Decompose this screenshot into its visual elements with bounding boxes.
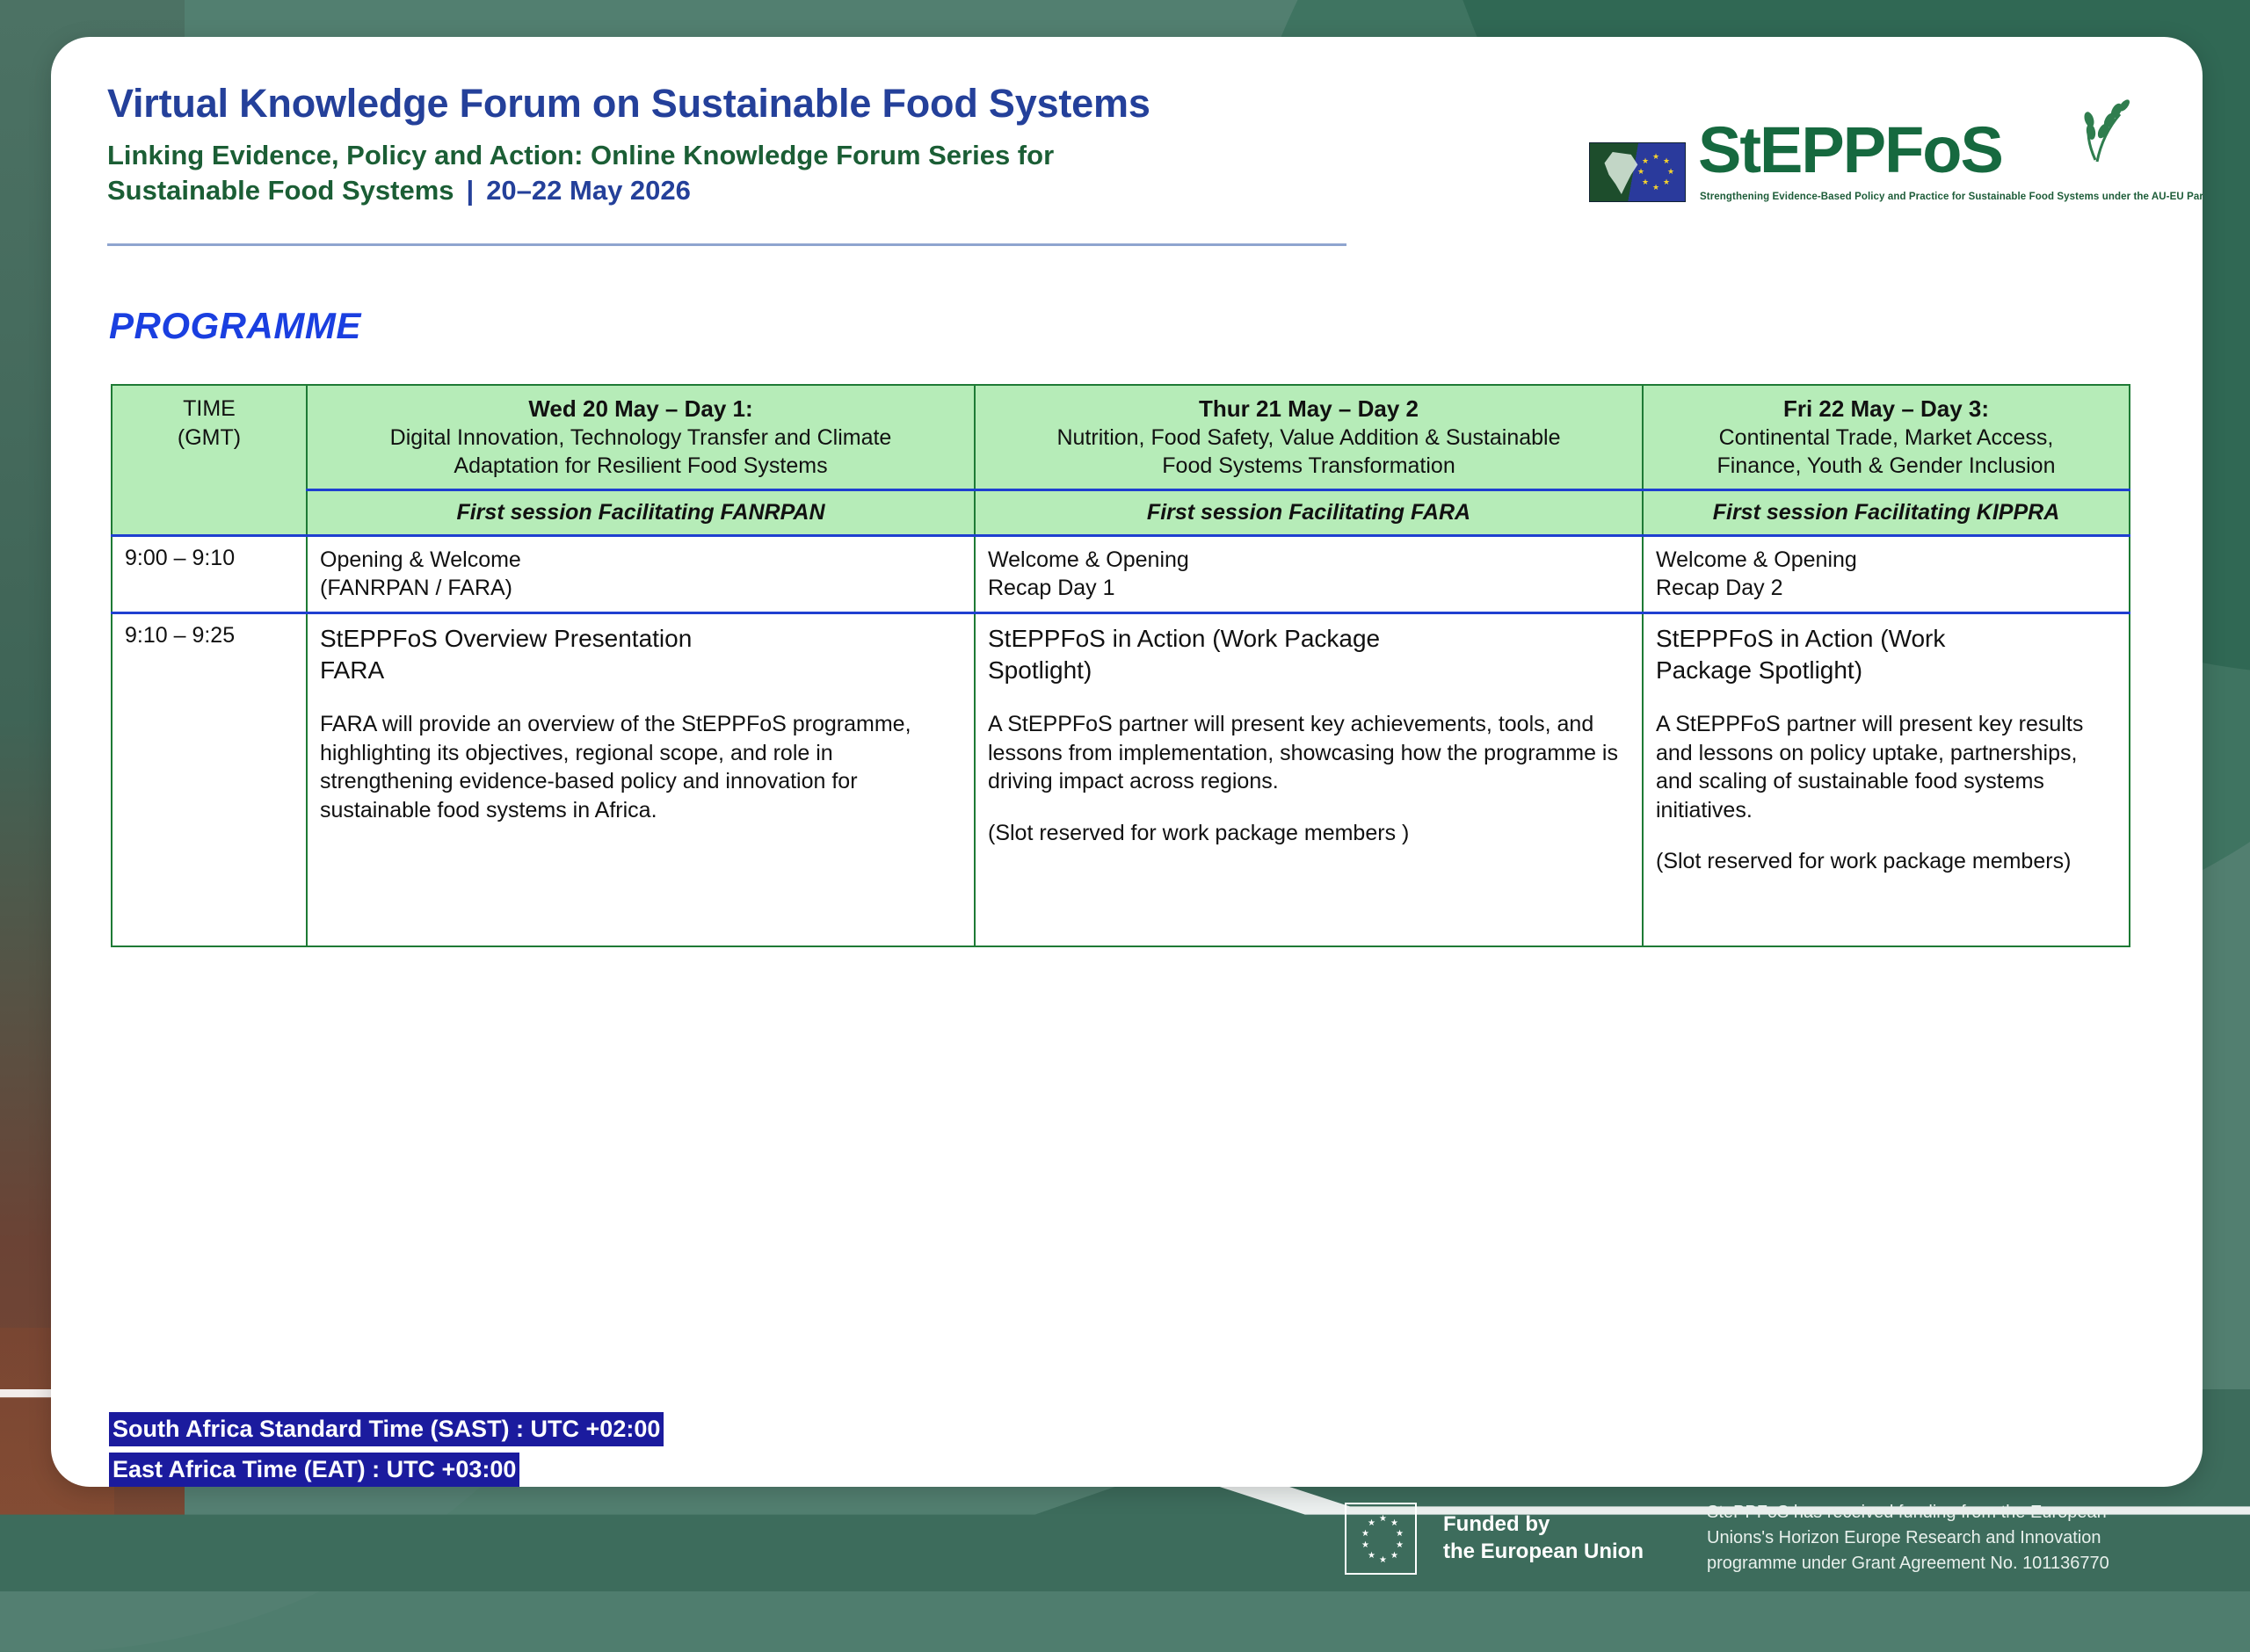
day1-facilitator: First session Facilitating FANRPAN (307, 489, 975, 535)
timezone-sast: South Africa Standard Time (SAST) : UTC … (109, 1412, 664, 1446)
grant-line-2: Unions's Horizon Europe Research and Inn… (1707, 1525, 2109, 1551)
programme-table: TIME (GMT) Wed 20 May – Day 1: Digital I… (111, 384, 2130, 947)
table-header-row: TIME (GMT) Wed 20 May – Day 1: Digital I… (112, 385, 2130, 489)
day2-facilitator: First session Facilitating FARA (975, 489, 1643, 535)
row1-day1-cell: Opening & Welcome (FANRPAN / FARA) (307, 535, 975, 612)
eu-stars-icon: ★ ★ ★ ★ ★ ★ ★ ★ ★ ★ (1346, 1504, 1415, 1573)
spacer (1656, 687, 2116, 710)
time-header-line-2: (GMT) (125, 424, 294, 453)
subtitle-line-2: Sustainable Food Systems (107, 175, 454, 206)
row1-day2-cell: Welcome & Opening Recap Day 1 (975, 535, 1643, 612)
row2-day2-lead1: StEPPFoS in Action (Work Package (988, 623, 1629, 656)
steppfos-logo: ★ ★ ★ ★ ★ ★ ★ ★ StEPPFoS Str (1589, 109, 2152, 206)
row1-day2-lead1: Welcome & Opening (988, 546, 1629, 575)
day3-facilitator: First session Facilitating KIPPRA (1643, 489, 2130, 535)
spacer (988, 796, 1629, 819)
row2-day3-lead2: Package Spotlight) (1656, 655, 2116, 687)
row2-day3-lead1: StEPPFoS in Action (Work (1656, 623, 2116, 656)
funded-line-1: Funded by (1443, 1511, 1644, 1539)
grant-line-3: programme under Grant Agreement No. 1011… (1707, 1551, 2109, 1576)
row1-day3-lead1: Welcome & Opening (1656, 546, 2116, 575)
day1-theme-line-2: Adaptation for Resilient Food Systems (320, 452, 962, 480)
subtitle-line-1: Linking Evidence, Policy and Action: Onl… (107, 140, 1054, 170)
funding-block: ★ ★ ★ ★ ★ ★ ★ ★ ★ ★ Funded by the Europe… (1345, 1500, 2109, 1576)
row2-day3-cell: StEPPFoS in Action (Work Package Spotlig… (1643, 612, 2130, 946)
timezone-notes: South Africa Standard Time (SAST) : UTC … (109, 1412, 664, 1487)
day1-name: Wed 20 May – Day 1: (320, 395, 962, 424)
grant-line-1: StePPFoS has received funding from the E… (1707, 1500, 2109, 1525)
row1-day2-lead2: Recap Day 1 (988, 574, 1629, 603)
row2-day2-lead2: Spotlight) (988, 655, 1629, 687)
row2-day2-cell: StEPPFoS in Action (Work Package Spotlig… (975, 612, 1643, 946)
row2-day1-lead2: FARA (320, 655, 962, 687)
row2-day1-cell: StEPPFoS Overview Presentation FARA FARA… (307, 612, 975, 946)
row2-time: 9:10 – 9:25 (112, 612, 307, 946)
eu-stars-icon: ★ ★ ★ ★ ★ ★ ★ ★ (1637, 152, 1676, 192)
row2-day2-note: (Slot reserved for work package members … (988, 819, 1629, 848)
row1-day1-lead2: (FANRPAN / FARA) (320, 574, 962, 603)
logo-wordmark: StEPPFoS (1698, 118, 2002, 183)
slide-footer: ★ ★ ★ ★ ★ ★ ★ ★ ★ ★ Funded by the Europe… (0, 1481, 2250, 1591)
subtitle-separator: | (454, 175, 487, 206)
africa-map-icon (1602, 152, 1639, 194)
slide-card: Virtual Knowledge Forum on Sustainable F… (51, 37, 2203, 1487)
time-header-line-1: TIME (125, 395, 294, 424)
row2-day1-lead1: StEPPFoS Overview Presentation (320, 623, 962, 656)
row1-time: 9:00 – 9:10 (112, 535, 307, 612)
logo-tagline: Strengthening Evidence-Based Policy and … (1700, 192, 2203, 202)
table-row: 9:00 – 9:10 Opening & Welcome (FANRPAN /… (112, 535, 2130, 612)
section-heading: PROGRAMME (109, 305, 361, 347)
day3-header: Fri 22 May – Day 3: Continental Trade, M… (1643, 385, 2130, 489)
header-divider (107, 243, 1346, 246)
grant-note: StePPFoS has received funding from the E… (1707, 1500, 2109, 1576)
funded-line-2: the European Union (1443, 1539, 1644, 1566)
au-eu-flag-icon: ★ ★ ★ ★ ★ ★ ★ ★ (1589, 142, 1686, 202)
event-dates: 20–22 May 2026 (486, 175, 691, 206)
eu-flag-icon: ★ ★ ★ ★ ★ ★ ★ ★ ★ ★ (1345, 1503, 1417, 1575)
facilitator-row: First session Facilitating FANRPAN First… (112, 489, 2130, 535)
day3-theme-line-2: Finance, Youth & Gender Inclusion (1656, 452, 2116, 480)
row2-day3-body: A StEPPFoS partner will present key resu… (1656, 710, 2116, 824)
funded-by-label: Funded by the European Union (1443, 1511, 1644, 1565)
row1-day1-lead1: Opening & Welcome (320, 546, 962, 575)
row2-day1-body: FARA will provide an overview of the StE… (320, 710, 962, 824)
spacer (988, 687, 1629, 710)
table-row: 9:10 – 9:25 StEPPFoS Overview Presentati… (112, 612, 2130, 946)
day3-theme-line-1: Continental Trade, Market Access, (1656, 424, 2116, 452)
row2-day2-body: A StEPPFoS partner will present key achi… (988, 710, 1629, 796)
day3-name: Fri 22 May – Day 3: (1656, 395, 2116, 424)
wheat-sprig-icon (2062, 93, 2137, 169)
spacer (1656, 824, 2116, 847)
day2-header: Thur 21 May – Day 2 Nutrition, Food Safe… (975, 385, 1643, 489)
day1-header: Wed 20 May – Day 1: Digital Innovation, … (307, 385, 975, 489)
day2-name: Thur 21 May – Day 2 (988, 395, 1629, 424)
row1-day3-cell: Welcome & Opening Recap Day 2 (1643, 535, 2130, 612)
time-column-header: TIME (GMT) (112, 385, 307, 535)
day1-theme-line-1: Digital Innovation, Technology Transfer … (320, 424, 962, 452)
day2-theme-line-2: Food Systems Transformation (988, 452, 1629, 480)
row2-day3-note: (Slot reserved for work package members) (1656, 847, 2116, 876)
row1-day3-lead2: Recap Day 2 (1656, 574, 2116, 603)
spacer (320, 687, 962, 710)
day2-theme-line-1: Nutrition, Food Safety, Value Addition &… (988, 424, 1629, 452)
